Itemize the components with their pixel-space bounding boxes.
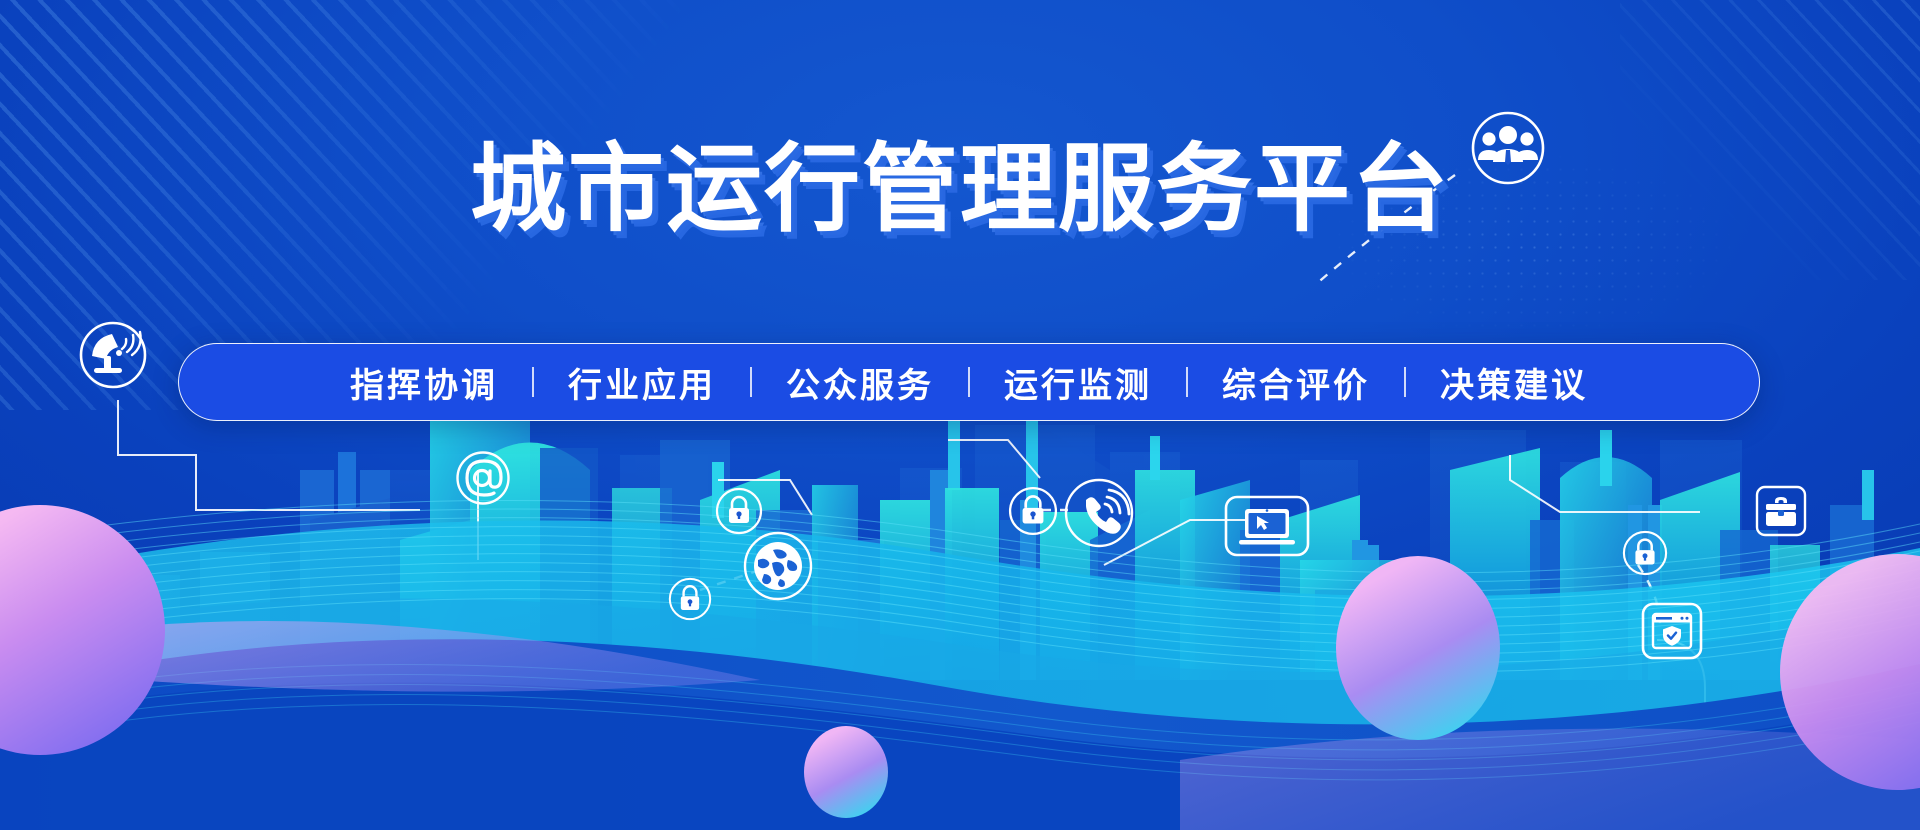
lock-icon bbox=[1008, 486, 1058, 536]
main-navigation-bar: 指挥协调 行业应用 公众服务 运行监测 综合评价 决策建议 bbox=[178, 343, 1760, 421]
users-group-icon bbox=[1470, 110, 1546, 186]
nav-item-decision-suggestion[interactable]: 决策建议 bbox=[1406, 358, 1622, 407]
city-platform-banner: 城市运行管理服务平台 指挥协调 行业应用 公众服务 运行监测 综合评价 决策建议 bbox=[0, 0, 1920, 830]
at-sign-icon bbox=[455, 450, 511, 506]
globe-icon bbox=[742, 530, 814, 602]
nav-item-public-service[interactable]: 公众服务 bbox=[752, 358, 968, 407]
lock-icon bbox=[715, 487, 763, 535]
nav-item-industry-application[interactable]: 行业应用 bbox=[534, 358, 750, 407]
lock-icon bbox=[1622, 530, 1668, 576]
phone-call-icon bbox=[1063, 477, 1135, 549]
briefcase-icon bbox=[1755, 485, 1807, 537]
lock-icon bbox=[668, 577, 712, 621]
browser-shield-icon bbox=[1641, 602, 1703, 660]
satellite-dish-icon bbox=[78, 320, 148, 390]
laptop-cursor-icon bbox=[1224, 495, 1310, 557]
nav-item-comprehensive-evaluation[interactable]: 综合评价 bbox=[1188, 358, 1404, 407]
nav-item-command-coordination[interactable]: 指挥协调 bbox=[316, 358, 532, 407]
nav-item-operation-monitoring[interactable]: 运行监测 bbox=[970, 358, 1186, 407]
